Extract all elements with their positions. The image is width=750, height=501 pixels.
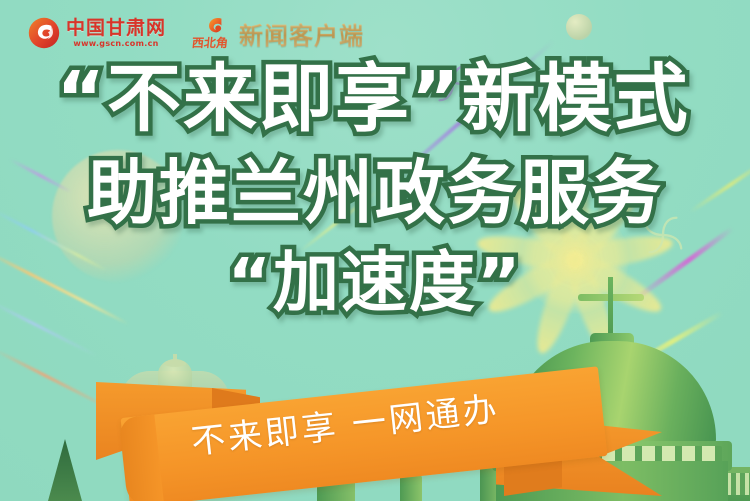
gansu-site-url: www.gscn.com.cn [73, 40, 158, 48]
dark-green-spire [48, 439, 82, 501]
gansu-net-logo[interactable]: 中国甘肃网 www.gscn.com.cn [28, 17, 166, 49]
xibeijiao-app-label: 新闻客户端 [239, 16, 364, 51]
headline-line-3: “加速度” [0, 250, 750, 316]
headline-line-2: 助推兰州政务服务 [0, 158, 750, 228]
gansu-site-name: 中国甘肃网 [66, 19, 166, 38]
xibeijiao-app-logo[interactable]: 西北角 新闻客户端 [192, 15, 364, 51]
poster-headline: “不来即享”新模式 助推兰州政务服务 “加速度” [0, 62, 750, 316]
headline-line-1: “不来即享”新模式 [0, 62, 750, 136]
poster-canvas: 中国甘肃网 www.gscn.com.cn 西北角 [0, 0, 750, 501]
gansu-swirl-mark-icon [28, 17, 60, 49]
xibeijiao-badge: 西北角 [192, 15, 232, 51]
xibeijiao-brand: 西北角 [191, 34, 229, 51]
